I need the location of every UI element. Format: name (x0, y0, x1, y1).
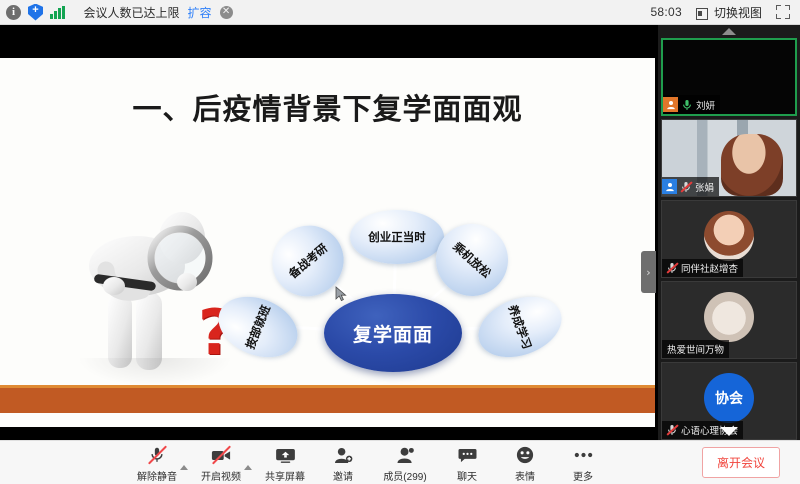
participant-name-row: 张娟 (662, 177, 719, 196)
participant-name-row: 同伴社赵增杏 (662, 259, 743, 277)
meeting-control-toolbar: 解除静音 开启视频 (0, 440, 800, 484)
microphone-muted-icon (680, 181, 692, 193)
more-dots-icon (574, 446, 593, 465)
shared-screen-stage: 一、后疫情背景下复学面面观 (0, 25, 658, 440)
slide-title: 一、后疫情背景下复学面面观 (0, 86, 655, 128)
share-screen-icon (275, 446, 296, 465)
leave-meeting-button[interactable]: 离开会议 (702, 447, 780, 478)
microphone-muted-icon (148, 446, 166, 465)
scroll-down-chevron-icon[interactable] (658, 424, 800, 438)
participant-tile[interactable]: 张娟 (661, 119, 797, 197)
scroll-up-chevron-icon[interactable] (658, 25, 800, 38)
expand-capacity-link[interactable]: 扩容 (188, 4, 212, 21)
share-screen-button[interactable]: 共享屏幕 (256, 443, 314, 483)
mouse-cursor-icon (335, 286, 347, 302)
diagram-center-node: 复学面面 (324, 294, 462, 372)
participant-thumbnail-panel: 刘妍 张娟 (658, 25, 800, 440)
camera-off-icon (211, 446, 231, 465)
chat-label: 聊天 (457, 468, 477, 483)
participant-name-row: 刘妍 (663, 95, 720, 114)
start-video-button[interactable]: 开启视频 (192, 443, 250, 483)
network-signal-icon[interactable] (50, 6, 65, 19)
unmute-label: 解除静音 (137, 468, 177, 483)
view-switch-label: 切换视图 (714, 4, 762, 21)
microphone-on-icon (681, 99, 693, 111)
invite-person-icon (334, 446, 353, 465)
info-icon[interactable]: i (6, 5, 21, 20)
audio-options-caret-icon[interactable] (180, 465, 188, 470)
participant-tile[interactable]: 刘妍 (661, 38, 797, 116)
emoji-button[interactable]: 表情 (496, 443, 554, 483)
participant-badge-icon (662, 179, 677, 194)
radial-diagram: 按部就班 备战考研 创业正当时 乘机放松 养成学习 复学面面 (228, 208, 558, 398)
unmute-button[interactable]: 解除静音 (128, 443, 186, 483)
start-video-label: 开启视频 (201, 468, 241, 483)
toolbar-items: 解除静音 开启视频 (0, 443, 612, 483)
participant-name: 刘妍 (696, 98, 715, 112)
emoji-label: 表情 (515, 468, 535, 483)
host-badge-icon (663, 97, 678, 112)
presentation-slide: 一、后疫情背景下复学面面观 (0, 58, 655, 427)
participant-name: 热爱世间万物 (667, 342, 724, 356)
video-options-caret-icon[interactable] (244, 465, 252, 470)
emoji-smile-icon (516, 446, 534, 465)
diagram-node-3: 创业正当时 (350, 210, 444, 264)
share-screen-label: 共享屏幕 (265, 468, 305, 483)
top-bar-left-group: i + 会议人数已达上限 扩容 ✕ (0, 4, 233, 21)
invite-label: 邀请 (333, 468, 353, 483)
zoom-meeting-window: i + 会议人数已达上限 扩容 ✕ 58:03 切换视图 一、后疫情背景下复学面… (0, 0, 800, 484)
layout-grid-icon (696, 6, 710, 18)
figure-reflection (80, 358, 230, 386)
meeting-timer: 58:03 (650, 5, 682, 19)
participant-tile[interactable]: 同伴社赵增杏 (661, 200, 797, 278)
participant-name: 同伴社赵增杏 (681, 261, 738, 275)
participant-name-row: 热爱世间万物 (662, 340, 729, 358)
avatar: 协会 (704, 373, 754, 423)
microphone-muted-icon (666, 262, 678, 274)
security-shield-icon[interactable]: + (28, 4, 43, 21)
limit-notice-text: 会议人数已达上限 (84, 4, 180, 21)
more-button[interactable]: 更多 (554, 443, 612, 483)
close-icon[interactable]: ✕ (220, 6, 233, 19)
avatar (704, 211, 754, 261)
participants-icon (396, 446, 415, 465)
participants-button[interactable]: 成员(299) (372, 443, 438, 483)
top-bar-right-group: 58:03 切换视图 (650, 4, 800, 21)
participants-label: 成员(299) (383, 468, 426, 483)
fullscreen-icon[interactable] (776, 5, 790, 19)
top-status-bar: i + 会议人数已达上限 扩容 ✕ 58:03 切换视图 (0, 0, 800, 25)
participant-name: 张娟 (695, 180, 714, 194)
slide-footer-bar (0, 385, 655, 413)
avatar (704, 292, 754, 342)
participant-tile-list: 刘妍 张娟 (658, 38, 800, 440)
chat-button[interactable]: 聊天 (438, 443, 496, 483)
invite-button[interactable]: 邀请 (314, 443, 372, 483)
magnifier-figure-illustration: ? (62, 186, 252, 386)
chat-bubble-icon (458, 446, 477, 465)
panel-collapse-handle[interactable]: › (641, 251, 656, 293)
more-label: 更多 (573, 468, 593, 483)
view-switch-button[interactable]: 切换视图 (696, 4, 762, 21)
meeting-limit-notice: 会议人数已达上限 扩容 ✕ (84, 4, 233, 21)
participant-tile[interactable]: 热爱世间万物 (661, 281, 797, 359)
